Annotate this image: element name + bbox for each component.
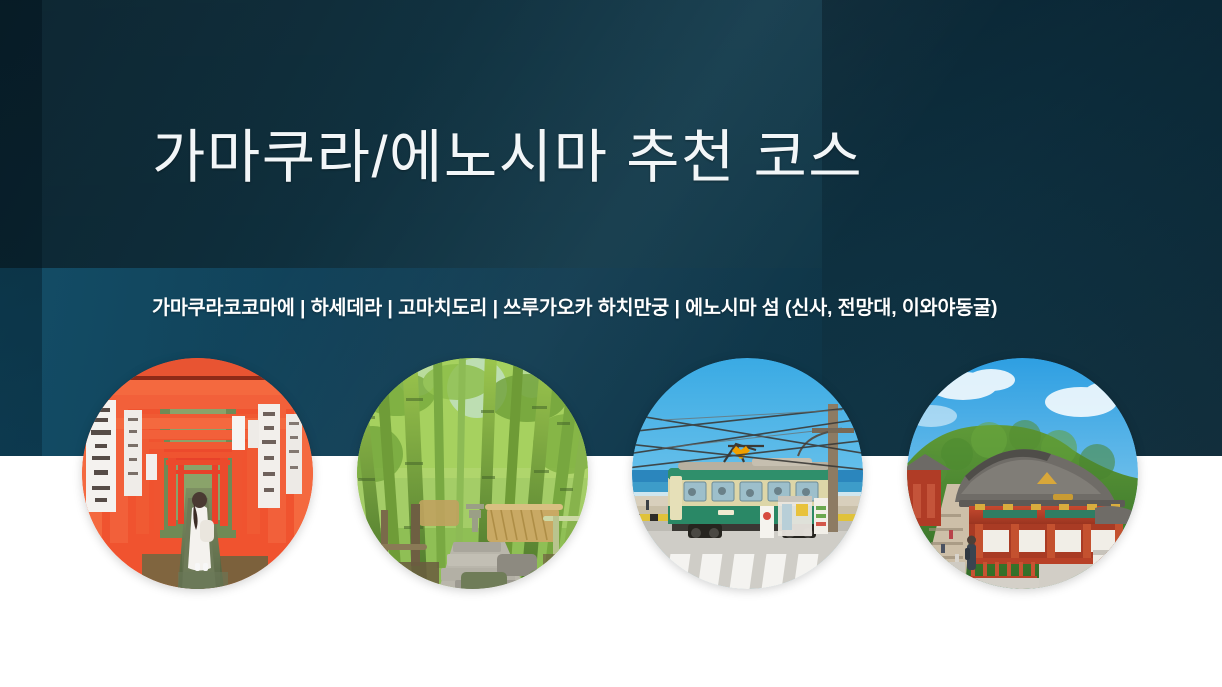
slide-canvas: 가마쿠라/에노시마 추천 코스 가마쿠라코코마에 | 하세데라 | 고마치도리 …: [0, 0, 1222, 687]
bamboo-grove-photo: [357, 358, 588, 589]
enoshima-train-photo: [632, 358, 863, 589]
photo-row: [0, 0, 1222, 687]
torii-gate-tunnel-photo: [82, 358, 313, 589]
tsurugaoka-hachiman-shrine-photo: [907, 358, 1138, 589]
